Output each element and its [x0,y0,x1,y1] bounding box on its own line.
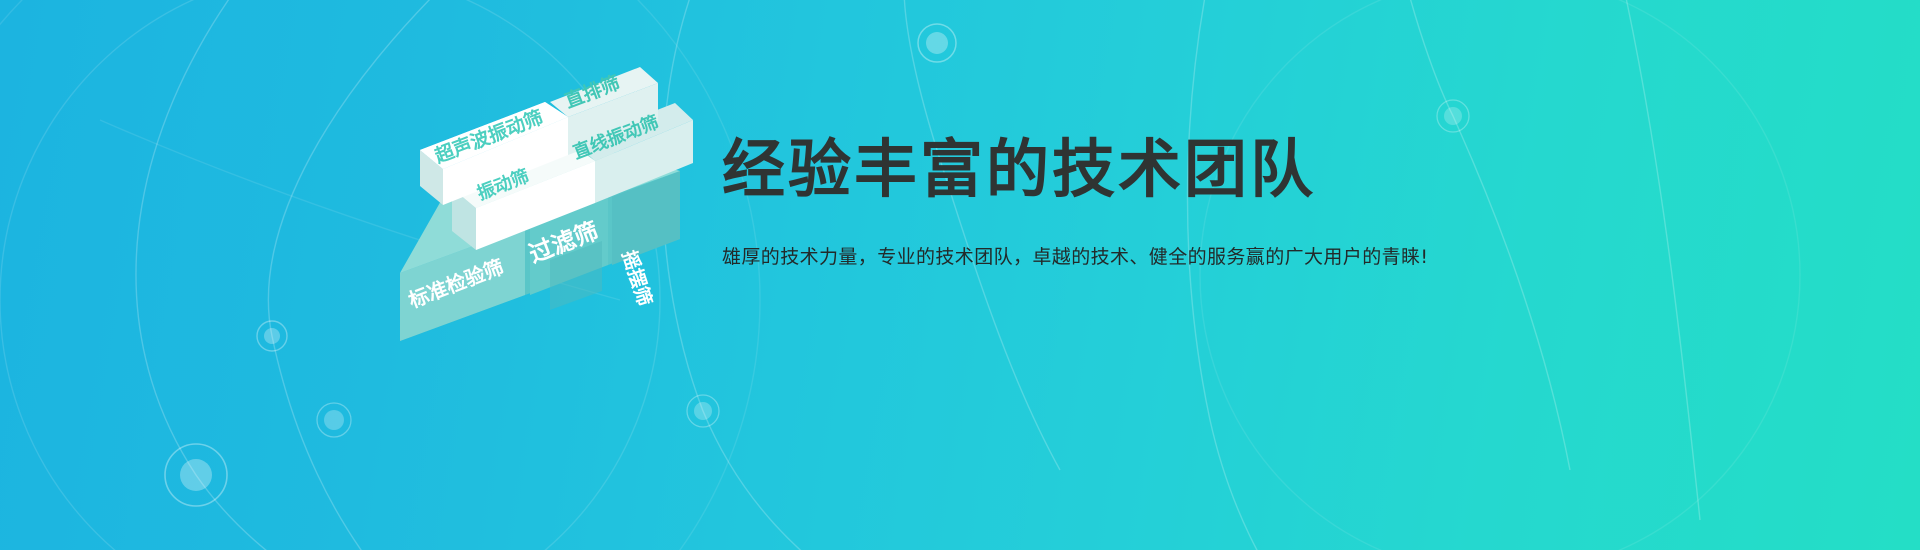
decor-node-3 [165,444,227,506]
page-subtitle: 雄厚的技术力量，专业的技术团队，卓越的技术、健全的服务赢的广大用户的青睐! [722,242,1342,269]
decor-node-4 [317,403,351,437]
decor-ring-3 [1200,0,1800,550]
decor-node-1 [918,24,956,62]
decor-curve-7 [1620,0,1700,520]
banner-text-block: 经验丰富的技术团队 雄厚的技术力量，专业的技术团队，卓越的技术、健全的服务赢的广… [722,138,1342,269]
page-title: 经验丰富的技术团队 [722,138,1342,202]
decor-curve-5 [1188,0,1301,550]
decor-node-6 [1437,100,1469,132]
decor-curve-2 [136,0,420,550]
decor-node-5 [687,395,719,427]
hero-banner: 超声波振动筛 直排筛 振动筛 直线振动筛 标准检验筛 过滤筛 摇摆筛 经验丰富的… [0,0,1920,550]
decor-curve-6 [1400,0,1570,470]
decor-node-2 [257,321,287,351]
background-decoration [0,0,1920,550]
product-cube-graphic: 超声波振动筛 直排筛 振动筛 直线振动筛 标准检验筛 过滤筛 摇摆筛 [390,45,720,355]
cube-label-6: 摇摆筛 [617,247,656,308]
